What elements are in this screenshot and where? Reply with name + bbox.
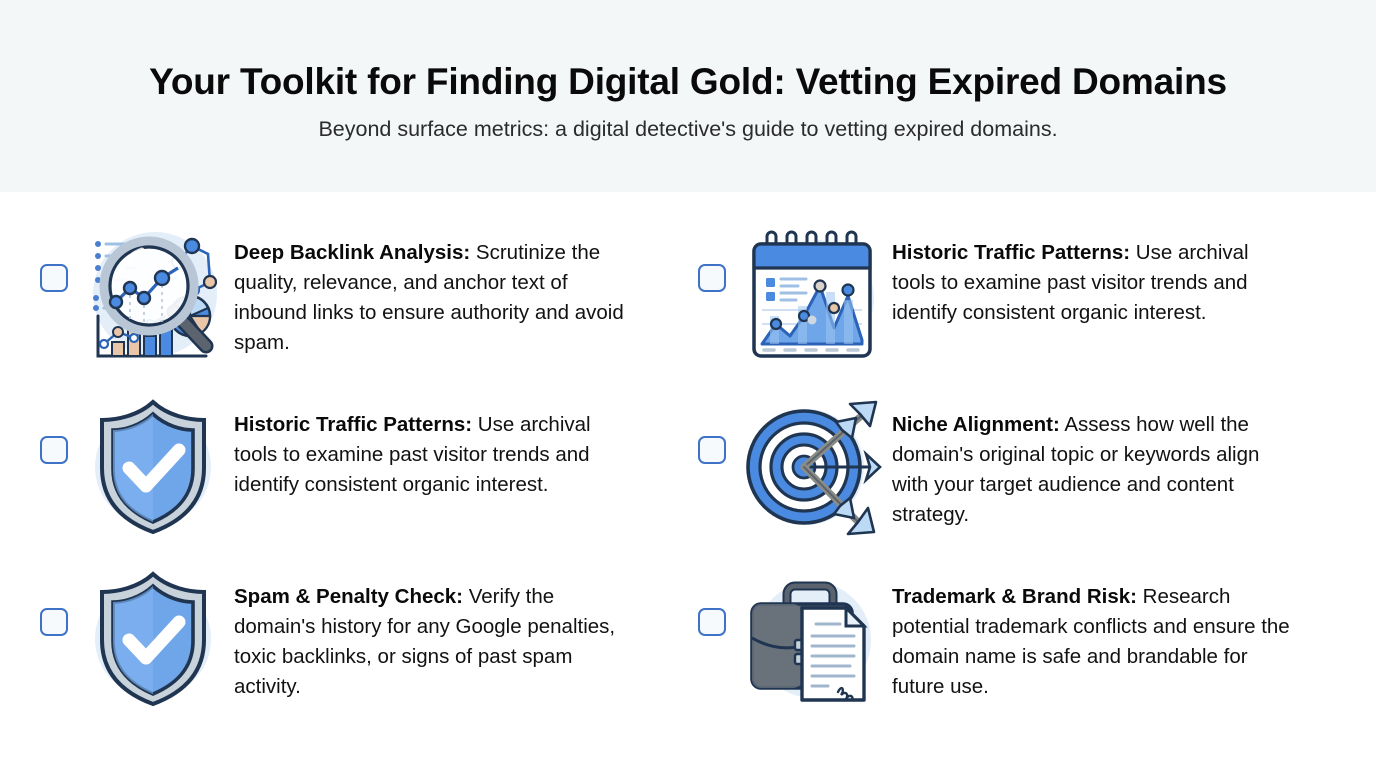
checklist-item-deep-backlink-analysis[interactable]: Deep Backlink Analysis: Scrutinize the q… <box>40 216 688 388</box>
page-title: Your Toolkit for Finding Digital Gold: V… <box>149 61 1227 104</box>
checkbox-deep-backlink-analysis[interactable] <box>40 264 68 292</box>
checklist-grid: Deep Backlink Analysis: Scrutinize the q… <box>0 192 1376 768</box>
checklist-item-text: Deep Backlink Analysis: Scrutinize the q… <box>234 224 634 358</box>
checkbox-niche-alignment[interactable] <box>698 436 726 464</box>
checkbox-historic-traffic-patterns-shield[interactable] <box>40 436 68 464</box>
calendar-chart-icon <box>740 224 882 366</box>
shield-check-icon <box>82 396 224 538</box>
checkbox-historic-traffic-patterns-calendar[interactable] <box>698 264 726 292</box>
checklist-item-lead: Niche Alignment: <box>892 413 1060 436</box>
checklist-item-text: Trademark & Brand Risk: Research potenti… <box>892 568 1292 702</box>
briefcase-document-icon <box>740 568 882 710</box>
header-band: Your Toolkit for Finding Digital Gold: V… <box>0 0 1376 192</box>
checklist-item-text: Spam & Penalty Check: Verify the domain'… <box>234 568 634 702</box>
target-arrows-icon <box>740 396 882 538</box>
shield-check-icon <box>82 568 224 710</box>
checklist-item-niche-alignment[interactable]: Niche Alignment: Assess how well the dom… <box>688 388 1336 560</box>
checklist-item-text: Historic Traffic Patterns: Use archival … <box>892 224 1292 328</box>
checklist-item-historic-traffic-patterns-shield[interactable]: Historic Traffic Patterns: Use archival … <box>40 388 688 560</box>
checklist-item-lead: Trademark & Brand Risk: <box>892 585 1137 608</box>
checklist-item-lead: Historic Traffic Patterns: <box>234 413 472 436</box>
checklist-item-lead: Spam & Penalty Check: <box>234 585 463 608</box>
analytics-magnifier-icon <box>82 224 224 366</box>
checklist-item-spam-penalty-check[interactable]: Spam & Penalty Check: Verify the domain'… <box>40 560 688 732</box>
checklist-item-text: Historic Traffic Patterns: Use archival … <box>234 396 634 500</box>
checklist-item-text: Niche Alignment: Assess how well the dom… <box>892 396 1292 530</box>
checkbox-spam-penalty-check[interactable] <box>40 608 68 636</box>
checklist-item-trademark-brand-risk[interactable]: Trademark & Brand Risk: Research potenti… <box>688 560 1336 732</box>
page-subtitle: Beyond surface metrics: a digital detect… <box>318 116 1057 143</box>
checklist-item-historic-traffic-patterns-calendar[interactable]: Historic Traffic Patterns: Use archival … <box>688 216 1336 388</box>
checkbox-trademark-brand-risk[interactable] <box>698 608 726 636</box>
checklist-item-lead: Historic Traffic Patterns: <box>892 241 1130 264</box>
checklist-item-lead: Deep Backlink Analysis: <box>234 241 470 264</box>
